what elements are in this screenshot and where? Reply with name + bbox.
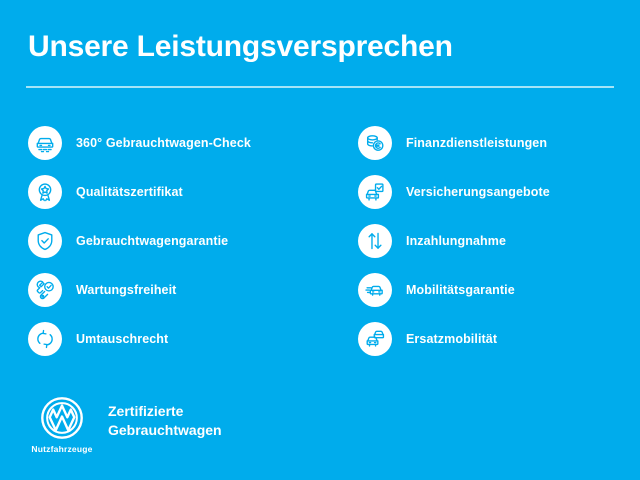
- exchange-arrows-icon: [28, 322, 62, 356]
- feature-label: Versicherungsangebote: [406, 185, 550, 199]
- award-rosette-icon: [28, 175, 62, 209]
- vw-brand-block: Nutzfahrzeuge: [30, 396, 94, 454]
- coins-euro-icon: [358, 126, 392, 160]
- feature-label: Gebrauchtwagengarantie: [76, 234, 228, 248]
- feature-label: Mobilitätsgarantie: [406, 283, 515, 297]
- feature-label: Umtauschrecht: [76, 332, 168, 346]
- car-checklist-icon: [358, 175, 392, 209]
- arrows-up-down-icon: [358, 224, 392, 258]
- car-inspection-icon: [28, 126, 62, 160]
- feature-item: Mobilitätsgarantie: [358, 273, 638, 307]
- footer-line-1: Zertifizierte: [108, 402, 222, 421]
- footer-headline: Zertifizierte Gebrauchtwagen: [108, 402, 222, 440]
- footer-line-2: Gebrauchtwagen: [108, 421, 222, 440]
- feature-label: 360° Gebrauchtwagen-Check: [76, 136, 251, 150]
- feature-column-right: Finanzdienstleistungen Versicherungsange…: [358, 126, 638, 371]
- car-speed-icon: [358, 273, 392, 307]
- feature-item: Versicherungsangebote: [358, 175, 638, 209]
- feature-item: Ersatzmobilität: [358, 322, 638, 356]
- shield-check-icon: [28, 224, 62, 258]
- feature-label: Qualitätszertifikat: [76, 185, 183, 199]
- vw-logo-icon: [40, 396, 84, 440]
- feature-item: 360° Gebrauchtwagen-Check: [28, 126, 328, 160]
- two-cars-icon: [358, 322, 392, 356]
- feature-item: Wartungsfreiheit: [28, 273, 328, 307]
- promo-banner: Unsere Leistungsversprechen 360° Gebrauc…: [0, 0, 640, 480]
- feature-label: Finanzdienstleistungen: [406, 136, 547, 150]
- feature-column-left: 360° Gebrauchtwagen-Check Qualitätszerti…: [28, 126, 328, 371]
- feature-item: Finanzdienstleistungen: [358, 126, 638, 160]
- feature-item: Qualitätszertifikat: [28, 175, 328, 209]
- footer-branding: Nutzfahrzeuge Zertifizierte Gebrauchtwag…: [30, 396, 222, 454]
- feature-item: Umtauschrecht: [28, 322, 328, 356]
- feature-item: Gebrauchtwagengarantie: [28, 224, 328, 258]
- wrench-check-icon: [28, 273, 62, 307]
- feature-label: Inzahlungnahme: [406, 234, 506, 248]
- feature-label: Wartungsfreiheit: [76, 283, 176, 297]
- page-title: Unsere Leistungsversprechen: [28, 30, 453, 64]
- feature-item: Inzahlungnahme: [358, 224, 638, 258]
- vw-logo-subtitle: Nutzfahrzeuge: [31, 444, 92, 454]
- feature-label: Ersatzmobilität: [406, 332, 497, 346]
- header-divider: [26, 86, 614, 88]
